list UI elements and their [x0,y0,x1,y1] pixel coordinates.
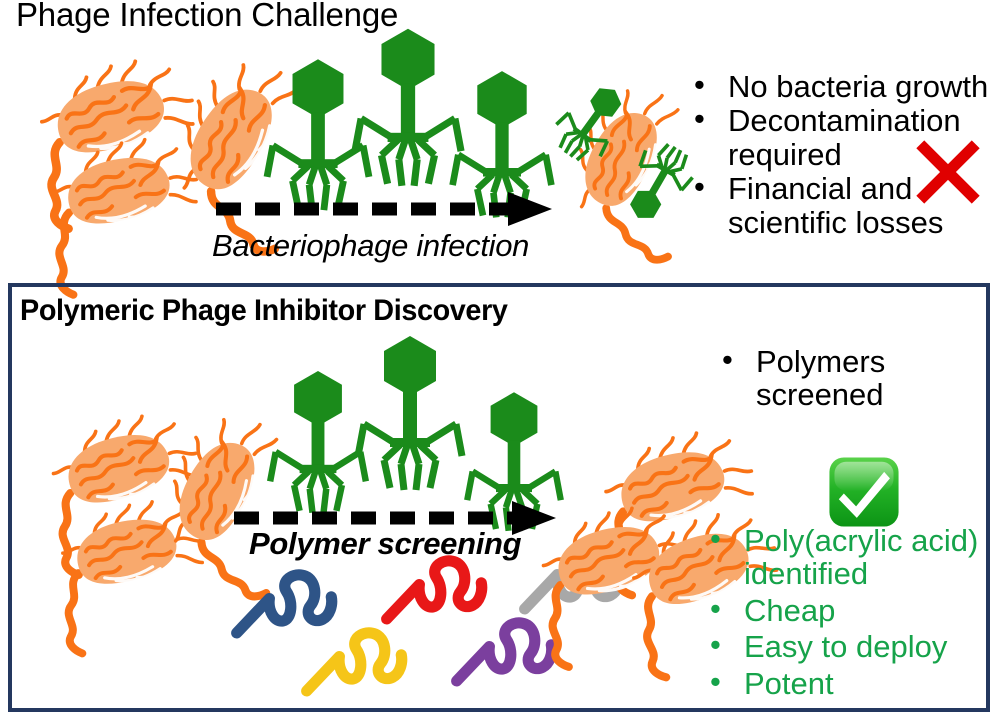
infection-arrow-label: Bacteriophage infection [212,228,529,264]
screening-arrow-label: Polymer screening [249,526,521,562]
panel-phage-infection-challenge: Phage Infection Challenge Bacteriophage … [0,0,1000,281]
list-item: Potent [700,667,1000,700]
list-item: Polymers screened [712,345,992,412]
graphical-abstract: Phage Infection Challenge Bacteriophage … [0,0,1000,721]
top-panel-title: Phage Infection Challenge [16,0,398,34]
green-check-icon [828,456,900,528]
bottom-panel-title: Polymeric Phage Inhibitor Discovery [20,294,508,328]
bottom-panel-green-bullet-list: Poly(acrylic acid) identified Cheap Easy… [700,524,1000,703]
bottom-panel-black-bullet-list: Polymers screened [712,345,992,412]
list-item: Poly(acrylic acid) identified [700,524,1000,591]
list-item: Easy to deploy [700,630,1000,663]
list-item: No bacteria growth [684,70,1000,103]
list-item: Cheap [700,594,1000,627]
red-cross-icon [915,139,981,205]
